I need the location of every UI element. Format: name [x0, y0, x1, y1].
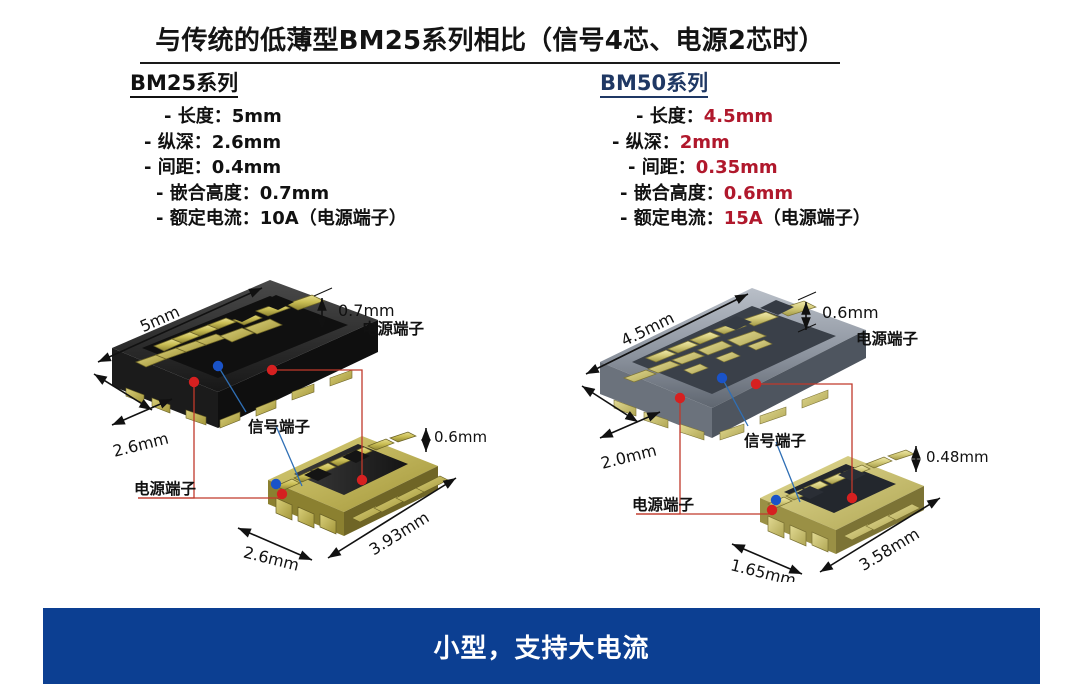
spec-value: 15A: [724, 208, 763, 229]
callout-signal: 信号端子: [248, 417, 311, 436]
spec-value: 2mm: [680, 132, 730, 153]
spec-label: - 嵌合高度：: [156, 183, 260, 204]
power-terminal-dot: [847, 493, 857, 503]
spec-item-mated-height: - 嵌合高度：0.6mm: [600, 181, 871, 207]
callout-power-top: 电源端子: [362, 319, 425, 338]
spec-label: - 额定电流：: [620, 208, 724, 229]
page-title: 与传统的低薄型BM25系列相比（信号4芯、电源2芯时）: [140, 20, 840, 64]
spec-block-bm50: BM50系列 - 长度：4.5mm - 纵深：2mm - 间距：0.35mm -…: [600, 72, 871, 232]
dim-label-height: 0.6mm: [822, 303, 879, 322]
spec-tail: （电源端子）: [763, 208, 871, 229]
power-terminal-dot: [267, 365, 277, 375]
spec-item-pitch: - 间距：0.4mm: [130, 155, 407, 181]
spec-label: - 额定电流：: [156, 208, 260, 229]
spec-label: - 长度：: [164, 106, 232, 127]
signal-terminal-dot: [771, 495, 781, 505]
spec-item-length: - 长度：4.5mm: [600, 104, 871, 130]
signal-terminal-dot: [717, 373, 727, 383]
diagram-bm25: 5mm 2.6mm 0.7mm: [90, 262, 500, 582]
spec-item-pitch: - 间距：0.35mm: [600, 155, 871, 181]
dim-label-plug-depth: 2.6mm: [242, 543, 302, 575]
spec-item-rated-current: - 额定电流：10A（电源端子）: [130, 206, 407, 232]
signal-terminal-dot: [271, 479, 281, 489]
power-terminal-dot: [277, 489, 287, 499]
spec-value: 4.5mm: [704, 106, 773, 127]
spec-label: - 间距：: [628, 157, 696, 178]
spec-label: - 长度：: [636, 106, 704, 127]
spec-label: - 嵌合高度：: [620, 183, 724, 204]
power-terminal-dot: [189, 377, 199, 387]
spec-item-depth: - 纵深：2mm: [600, 130, 871, 156]
callout-power-bottom: 电源端子: [632, 495, 695, 514]
bottom-banner: 小型，支持大电流: [43, 608, 1040, 684]
dim-label-plug-depth: 1.65mm: [729, 555, 798, 582]
power-terminal-dot: [357, 475, 367, 485]
spec-heading-bm50: BM50系列: [600, 72, 708, 98]
spec-value: 0.4mm: [212, 157, 281, 178]
spec-label: - 纵深：: [144, 132, 212, 153]
slide-canvas: 与传统的低薄型BM25系列相比（信号4芯、电源2芯时） BM25系列 - 长度：…: [0, 0, 1080, 684]
spec-value: 5mm: [232, 106, 282, 127]
spec-block-bm25: BM25系列 - 长度：5mm - 纵深：2.6mm - 间距：0.4mm - …: [130, 72, 407, 232]
signal-terminal-dot: [213, 361, 223, 371]
dim-label-depth: 2.0mm: [599, 441, 659, 473]
spec-value: 0.7mm: [260, 183, 329, 204]
spec-item-length: - 长度：5mm: [130, 104, 407, 130]
dim-label-depth: 2.6mm: [111, 429, 171, 461]
spec-label: - 纵深：: [612, 132, 680, 153]
spec-value: 10A: [260, 208, 299, 229]
power-terminal-dot: [767, 505, 777, 515]
spec-item-rated-current: - 额定电流：15A（电源端子）: [600, 206, 871, 232]
spec-label: - 间距：: [144, 157, 212, 178]
dim-label-height: 0.7mm: [338, 301, 395, 320]
spec-tail: （电源端子）: [299, 208, 407, 229]
diagram-bm50: 4.5mm 2.0mm 0.6mm: [580, 262, 1010, 582]
spec-value: 0.6mm: [724, 183, 793, 204]
spec-list-bm25: - 长度：5mm - 纵深：2.6mm - 间距：0.4mm - 嵌合高度：0.…: [130, 104, 407, 232]
spec-value: 0.35mm: [696, 157, 778, 178]
spec-item-depth: - 纵深：2.6mm: [130, 130, 407, 156]
banner-text: 小型，支持大电流: [433, 628, 649, 665]
spec-value: 2.6mm: [212, 132, 281, 153]
spec-heading-bm25: BM25系列: [130, 72, 238, 98]
dim-label-plug-height: 0.6mm: [434, 428, 487, 446]
power-terminal-dot: [751, 379, 761, 389]
power-terminal-dot: [675, 393, 685, 403]
callout-power-bottom: 电源端子: [134, 479, 197, 498]
callout-signal: 信号端子: [744, 431, 807, 450]
spec-item-mated-height: - 嵌合高度：0.7mm: [130, 181, 407, 207]
callout-power-top: 电源端子: [856, 329, 919, 348]
spec-list-bm50: - 长度：4.5mm - 纵深：2mm - 间距：0.35mm - 嵌合高度：0…: [600, 104, 871, 232]
dim-label-plug-height: 0.48mm: [926, 448, 989, 466]
